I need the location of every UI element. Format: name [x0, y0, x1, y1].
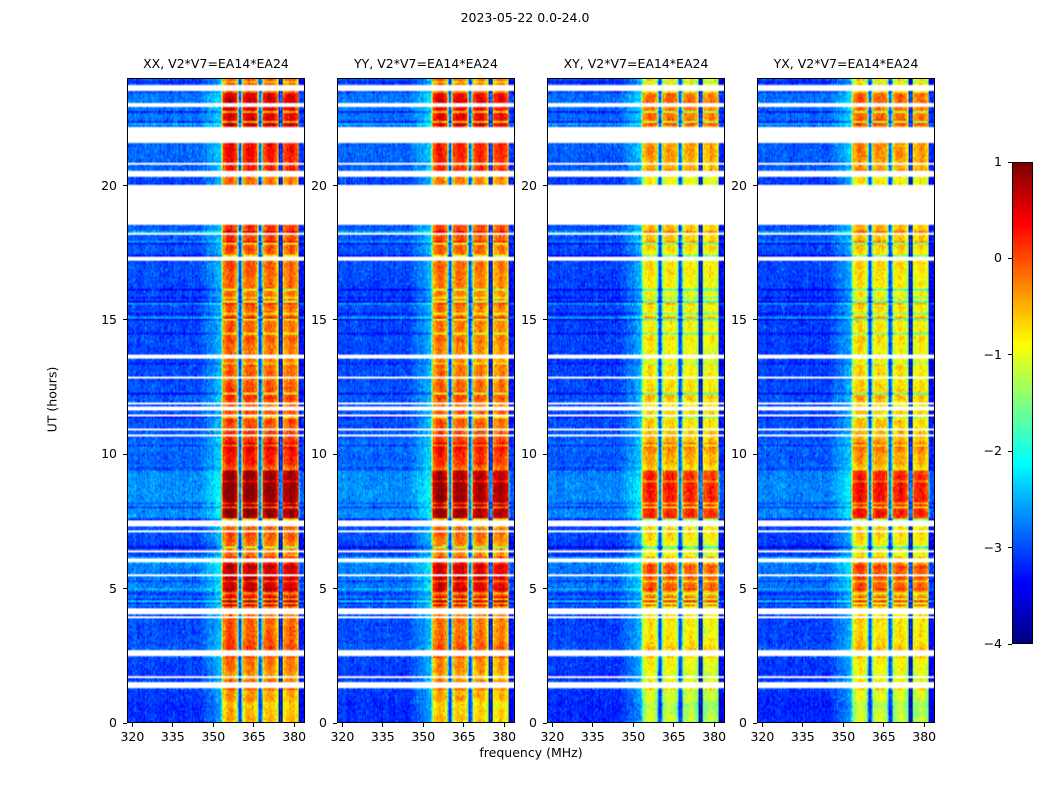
y-tickmark — [123, 454, 127, 455]
colorbar-tickmark — [1008, 547, 1012, 548]
x-tickmark — [673, 723, 674, 727]
waterfall-canvas-yx — [758, 79, 934, 722]
y-tickmark — [123, 588, 127, 589]
y-tick-label: 5 — [77, 581, 117, 596]
colorbar-tickmark — [1008, 162, 1012, 163]
y-tick-label: 10 — [707, 446, 747, 461]
x-tickmark — [172, 723, 173, 727]
y-tickmark — [333, 588, 337, 589]
x-tickmark — [423, 723, 424, 727]
x-tickmark — [213, 723, 214, 727]
figure-suptitle: 2023-05-22 0.0-24.0 — [0, 10, 1050, 25]
x-tickmark — [253, 723, 254, 727]
y-tickmark — [333, 185, 337, 186]
waterfall-panel-xy[interactable] — [547, 78, 725, 723]
y-tickmark — [753, 454, 757, 455]
y-tickmark — [543, 319, 547, 320]
colorbar-tick-label: −3 — [970, 540, 1002, 555]
x-axis-label: frequency (MHz) — [337, 745, 725, 760]
colorbar-tick-label: −4 — [970, 636, 1002, 651]
y-axis-label: UT (hours) — [45, 339, 60, 459]
y-tick-label: 10 — [287, 446, 327, 461]
colorbar-tickmark — [1008, 258, 1012, 259]
y-tick-label: 20 — [287, 178, 327, 193]
y-tick-label: 10 — [77, 446, 117, 461]
x-tickmark — [342, 723, 343, 727]
y-tick-label: 0 — [287, 715, 327, 730]
waterfall-panel-yy[interactable] — [337, 78, 515, 723]
colorbar-tick-label: −1 — [970, 347, 1002, 362]
y-tickmark — [543, 454, 547, 455]
y-tick-label: 0 — [707, 715, 747, 730]
y-tick-label: 10 — [497, 446, 537, 461]
y-tick-label: 20 — [497, 178, 537, 193]
y-tick-label: 20 — [77, 178, 117, 193]
y-tick-label: 15 — [497, 312, 537, 327]
colorbar-tickmark — [1008, 451, 1012, 452]
y-tickmark — [753, 723, 757, 724]
y-tick-label: 15 — [287, 312, 327, 327]
colorbar-tickmark — [1008, 354, 1012, 355]
y-tickmark — [123, 185, 127, 186]
waterfall-canvas-xy — [548, 79, 724, 722]
y-tickmark — [333, 454, 337, 455]
y-tick-label: 5 — [287, 581, 327, 596]
y-tickmark — [543, 185, 547, 186]
waterfall-panel-xx[interactable] — [127, 78, 305, 723]
colorbar — [1012, 162, 1033, 644]
y-tickmark — [753, 588, 757, 589]
x-tickmark — [843, 723, 844, 727]
y-tick-label: 15 — [77, 312, 117, 327]
y-tickmark — [543, 723, 547, 724]
waterfall-canvas-xx — [128, 79, 304, 722]
panel-title-yy: YY, V2*V7=EA14*EA24 — [337, 56, 515, 71]
waterfall-canvas-yy — [338, 79, 514, 722]
panel-title-xx: XX, V2*V7=EA14*EA24 — [127, 56, 305, 71]
x-tickmark — [592, 723, 593, 727]
panel-title-xy: XY, V2*V7=EA14*EA24 — [547, 56, 725, 71]
x-tickmark — [762, 723, 763, 727]
x-tickmark — [132, 723, 133, 727]
y-tickmark — [753, 185, 757, 186]
y-tickmark — [123, 319, 127, 320]
colorbar-tick-label: −2 — [970, 443, 1002, 458]
y-tick-label: 5 — [497, 581, 537, 596]
colorbar-gradient — [1013, 163, 1032, 643]
colorbar-tickmark — [1008, 644, 1012, 645]
y-tick-label: 0 — [77, 715, 117, 730]
y-tickmark — [753, 319, 757, 320]
y-tick-label: 0 — [497, 715, 537, 730]
x-tickmark — [924, 723, 925, 727]
waterfall-panel-yx[interactable] — [757, 78, 935, 723]
colorbar-tick-label: 1 — [970, 154, 1002, 169]
x-tickmark — [382, 723, 383, 727]
panel-title-yx: YX, V2*V7=EA14*EA24 — [757, 56, 935, 71]
x-tickmark — [552, 723, 553, 727]
y-tick-label: 20 — [707, 178, 747, 193]
x-tickmark — [802, 723, 803, 727]
y-tick-label: 15 — [707, 312, 747, 327]
x-tickmark — [633, 723, 634, 727]
y-tickmark — [123, 723, 127, 724]
y-tick-label: 5 — [707, 581, 747, 596]
x-tick-label: 380 — [894, 729, 954, 744]
colorbar-tick-label: 0 — [970, 250, 1002, 265]
x-tickmark — [883, 723, 884, 727]
x-tickmark — [463, 723, 464, 727]
y-tickmark — [333, 319, 337, 320]
y-tickmark — [543, 588, 547, 589]
y-tickmark — [333, 723, 337, 724]
